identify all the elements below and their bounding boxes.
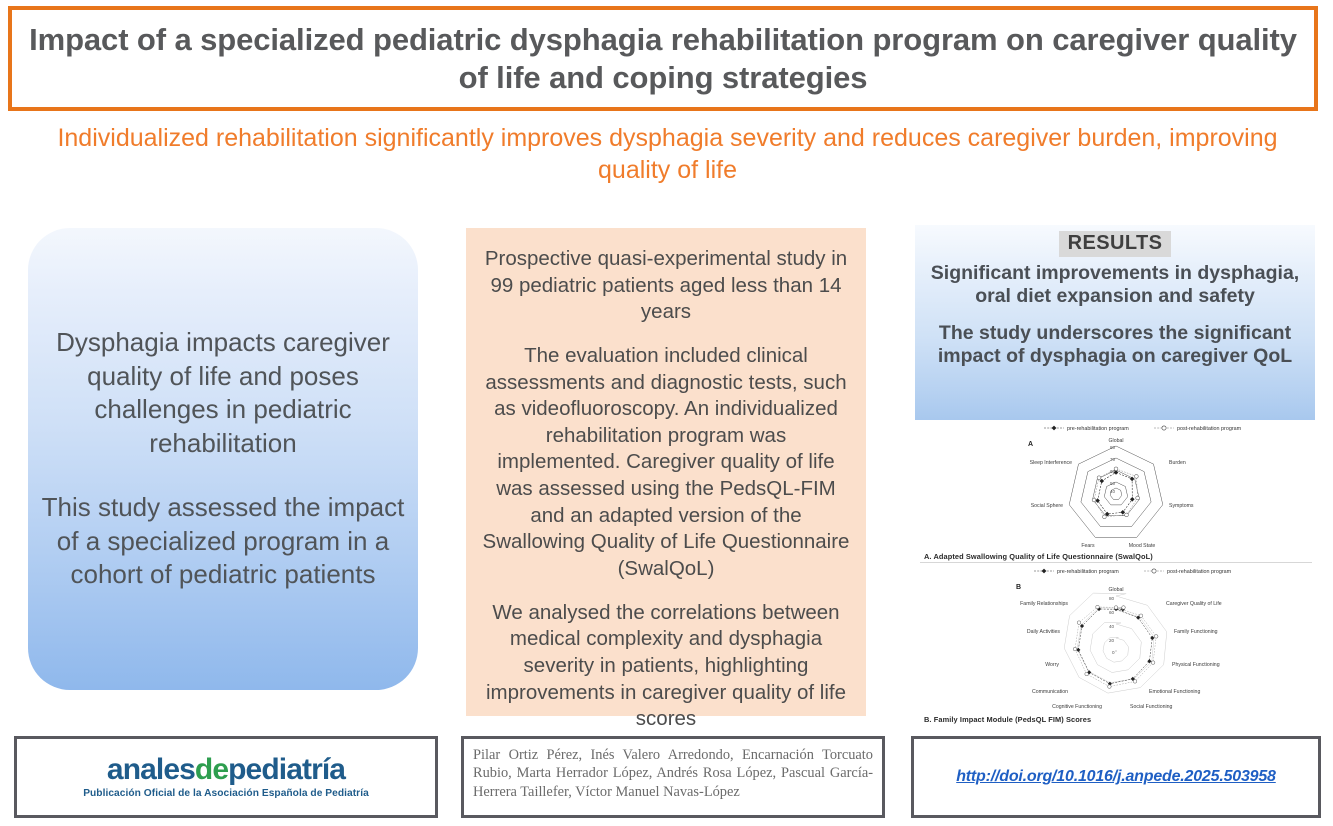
methods-paragraph-1: Prospective quasi-experimental study in …	[482, 246, 850, 326]
journal-logo-box: analesdepediatría Publicación Oficial de…	[14, 736, 438, 818]
open-circle-marker-icon	[1152, 569, 1156, 573]
chart-b-panel-letter: B	[1016, 584, 1021, 591]
filled-diamond-marker-icon	[1052, 426, 1057, 431]
filled-diamond-marker-icon	[1042, 569, 1047, 574]
chart-b-tick-80: 80	[1109, 596, 1115, 601]
chart-a-axis-label-global: Global	[1109, 438, 1124, 444]
chart-b-legend-label-1: pre-rehabilitation program	[1057, 569, 1119, 575]
chart-b-axis-label-global: Global	[1109, 587, 1124, 593]
radar-chart-b: pre-rehabilitation program post-rehabili…	[916, 563, 1316, 715]
results-panel: RESULTS Significant improvements in dysp…	[915, 225, 1315, 420]
chart-a-legend-label-2: post-rehabilitation program	[1177, 426, 1242, 432]
chart-b-axis-label-cognitive-functioning: Cognitive Functioning	[1052, 704, 1102, 710]
logo-part-pediatria: pediatría	[228, 753, 345, 786]
chart-a-axis-label-burden: Burden	[1169, 460, 1186, 466]
chart-b-axis-label-emotional-functioning: Emotional Functioning	[1149, 689, 1200, 695]
chart-a-axis-label-fears: Fears	[1081, 543, 1095, 549]
chart-b-tick-0: 0	[1112, 650, 1115, 655]
chart-b-axis-label-physical-functioning: Physical Functioning	[1172, 662, 1220, 668]
logo-part-anales: anales	[107, 753, 195, 786]
chart-a-legend: pre-rehabilitation program post-rehabili…	[1044, 426, 1242, 432]
chart-b-axis-label-communication: Communication	[1032, 689, 1068, 695]
journal-logo-subtitle: Publicación Oficial de la Asociación Esp…	[83, 788, 369, 799]
journal-logo: analesdepediatría Publicación Oficial de…	[83, 755, 369, 799]
results-paragraph-1: Significant improvements in dysphagia, o…	[923, 262, 1307, 309]
chart-a-axis-label-social-sphere: Social Sphere	[1031, 503, 1063, 509]
chart-b-tick-20: 20	[1109, 638, 1115, 643]
results-paragraph-2: The study underscores the significant im…	[923, 322, 1307, 369]
radar-chart-a-block: pre-rehabilitation program post-rehabili…	[916, 420, 1316, 563]
doi-box: http://doi.org/10.1016/j.anpede.2025.503…	[911, 736, 1321, 818]
logo-part-de: de	[195, 753, 228, 786]
open-circle-marker-icon	[1162, 426, 1166, 430]
chart-a-grid	[1069, 446, 1163, 537]
chart-b-tick-60: 60	[1109, 610, 1115, 615]
authors-list: Pilar Ortiz Pérez, Inés Valero Arredondo…	[473, 746, 873, 801]
chart-a-caption: A. Adapted Swallowing Quality of Life Qu…	[916, 552, 1316, 561]
chart-a-axis-label-mood-state: Mood State	[1129, 543, 1156, 549]
chart-b-caption: B. Family Impact Module (PedsQL FIM) Sco…	[916, 715, 1316, 724]
radar-chart-b-block: pre-rehabilitation program post-rehabili…	[916, 563, 1316, 724]
chart-b-post-markers	[1073, 605, 1158, 688]
chart-a-tick-40: 40	[1110, 489, 1116, 494]
methods-paragraph-2: The evaluation included clinical assessm…	[482, 343, 850, 583]
chart-b-series-post	[1073, 605, 1158, 688]
chart-b-axis-label-family-relationships: Family Relationships	[1020, 601, 1068, 607]
left-paragraph-2: This study assessed the impact of a spec…	[38, 491, 408, 592]
figure-box: pre-rehabilitation program post-rehabili…	[916, 420, 1316, 716]
chart-b-tick-40: 40	[1109, 624, 1115, 629]
chart-a-legend-label-1: pre-rehabilitation program	[1067, 426, 1129, 432]
chart-b-axis-label-worry: Worry	[1045, 662, 1059, 668]
doi-link[interactable]: http://doi.org/10.1016/j.anpede.2025.503…	[956, 768, 1276, 786]
chart-b-legend-label-2: post-rehabilitation program	[1167, 569, 1232, 575]
chart-a-axis-label-symptoms: Symptoms	[1169, 503, 1194, 509]
chart-a-tick-80: 80	[1110, 445, 1116, 450]
results-badge: RESULTS	[1059, 231, 1172, 257]
title-box: Impact of a specialized pediatric dyspha…	[8, 6, 1318, 111]
chart-b-axis-label-family-functioning: Family Functioning	[1174, 629, 1218, 635]
subtitle-highlight: Individualized rehabilitation significan…	[45, 122, 1290, 186]
radar-chart-a: pre-rehabilitation program post-rehabili…	[916, 420, 1316, 552]
chart-b-axis-label-daily-activities: Daily Activities	[1027, 629, 1061, 635]
page-title: Impact of a specialized pediatric dyspha…	[12, 21, 1314, 97]
chart-a-tick-50: 50	[1110, 481, 1116, 486]
chart-a-axis-label-sleep-interference: Sleep Interference	[1030, 460, 1073, 466]
chart-a-panel-letter: A	[1028, 441, 1033, 448]
chart-b-axis-label-caregiver-quality-of-life: Caregiver Quality of Life	[1166, 601, 1222, 607]
chart-b-legend: pre-rehabilitation program post-rehabili…	[1034, 569, 1232, 575]
methods-paragraph-3: We analysed the correlations between med…	[482, 600, 850, 733]
methods-panel: Prospective quasi-experimental study in …	[466, 228, 866, 716]
chart-b-axis-label-social-functioning: Social Functioning	[1130, 704, 1173, 710]
chart-a-tick-70: 70	[1110, 457, 1116, 462]
authors-box: Pilar Ortiz Pérez, Inés Valero Arredondo…	[461, 736, 885, 818]
journal-logo-wordmark: analesdepediatría	[83, 755, 369, 785]
background-panel: Dysphagia impacts caregiver quality of l…	[28, 228, 418, 690]
left-paragraph-1: Dysphagia impacts caregiver quality of l…	[38, 326, 408, 461]
